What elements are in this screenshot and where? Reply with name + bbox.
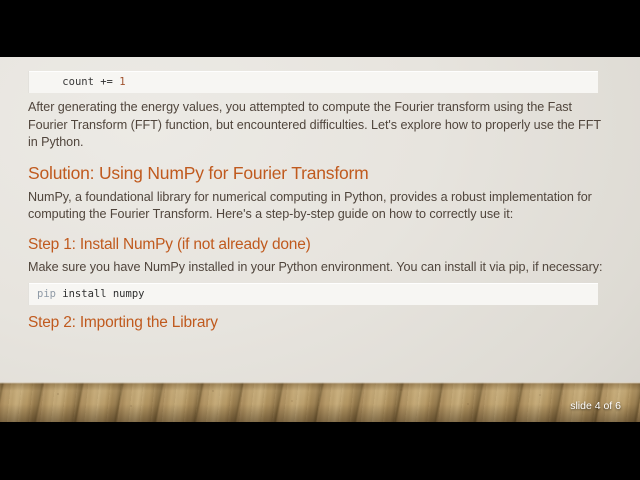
code-token-pip-args: install numpy (56, 288, 145, 300)
letterbox-top (0, 0, 640, 57)
code-token-variable: count (62, 76, 94, 88)
paragraph-intro: After generating the energy values, you … (28, 99, 606, 152)
floor-shading (0, 382, 640, 422)
code-indent (37, 76, 62, 88)
wooden-floor-graphic (0, 382, 640, 422)
letterbox-bottom (0, 422, 640, 480)
slide-counter: slide 4 of 6 (570, 400, 621, 412)
heading-solution: Solution: Using NumPy for Fourier Transf… (28, 162, 612, 184)
code-block-pip-install: pip install numpy (28, 283, 598, 305)
code-token-pip: pip (37, 288, 56, 300)
slide-text-column: count += 1 After generating the energy v… (28, 71, 612, 333)
code-token-number: 1 (119, 76, 125, 88)
code-block-count: count += 1 (28, 71, 598, 93)
floor-top-edge (0, 382, 640, 384)
paragraph-install-instructions: Make sure you have NumPy installed in yo… (28, 259, 606, 277)
paragraph-numpy-overview: NumPy, a foundational library for numeri… (28, 189, 606, 224)
slide-content-area: count += 1 After generating the energy v… (0, 57, 640, 382)
heading-step-2: Step 2: Importing the Library (28, 313, 612, 333)
code-token-operator: += (94, 76, 119, 88)
presentation-viewer: count += 1 After generating the energy v… (0, 0, 640, 480)
heading-step-1: Step 1: Install NumPy (if not already do… (28, 235, 612, 255)
slide-canvas: count += 1 After generating the energy v… (0, 57, 640, 422)
